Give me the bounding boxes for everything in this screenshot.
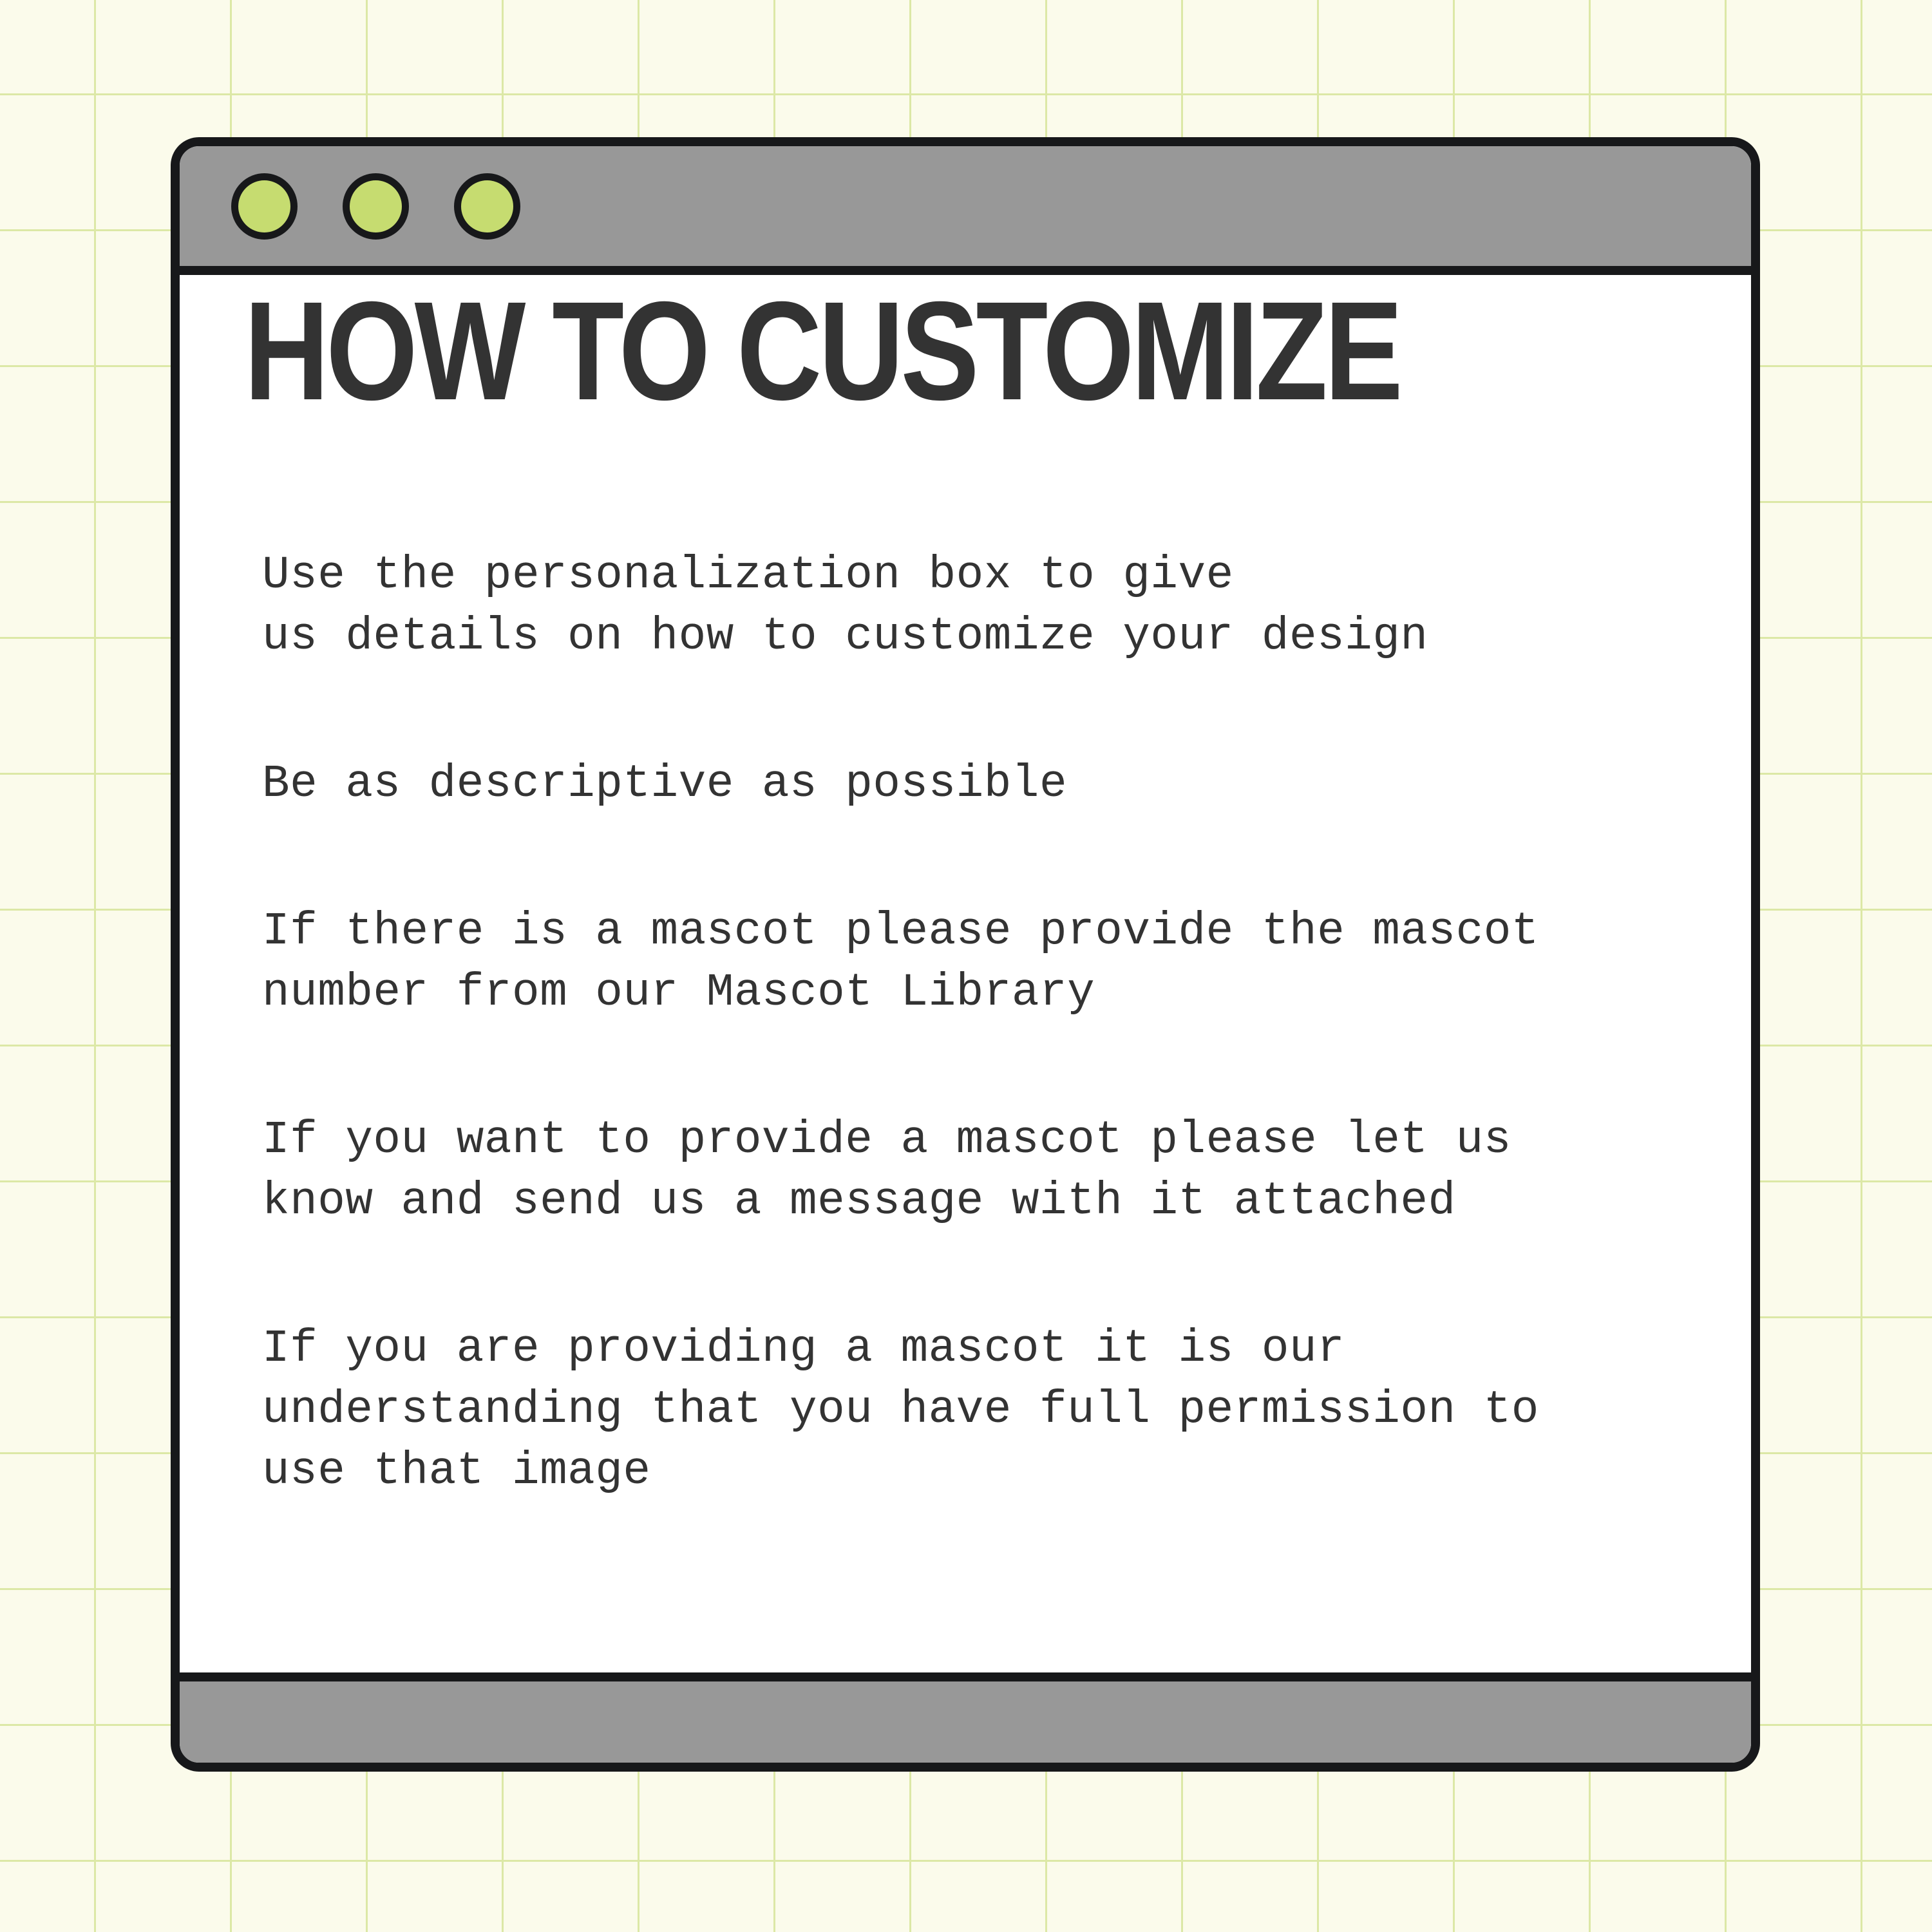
- window-bottombar: [180, 1672, 1751, 1763]
- window-dot-2-icon[interactable]: [343, 173, 409, 240]
- instruction-paragraph-2: Be as descriptive as possible: [262, 754, 1705, 815]
- window-dot-1-icon[interactable]: [231, 173, 298, 240]
- instruction-paragraph-5: If you are providing a mascot it is our …: [262, 1319, 1705, 1502]
- window-titlebar: [180, 146, 1751, 275]
- window-dot-3-icon[interactable]: [454, 173, 520, 240]
- app-window: HOW TO CUSTOMIZE Use the personalization…: [171, 137, 1760, 1772]
- window-content: HOW TO CUSTOMIZE Use the personalization…: [180, 275, 1751, 1672]
- instructions-list: Use the personalization box to give us d…: [262, 545, 1705, 1502]
- graph-paper-background: HOW TO CUSTOMIZE Use the personalization…: [0, 0, 1932, 1932]
- instruction-paragraph-1: Use the personalization box to give us d…: [262, 545, 1705, 668]
- instruction-paragraph-3: If there is a mascot please provide the …: [262, 902, 1705, 1024]
- page-title: HOW TO CUSTOMIZE: [244, 281, 1400, 422]
- instruction-paragraph-4: If you want to provide a mascot please l…: [262, 1110, 1705, 1233]
